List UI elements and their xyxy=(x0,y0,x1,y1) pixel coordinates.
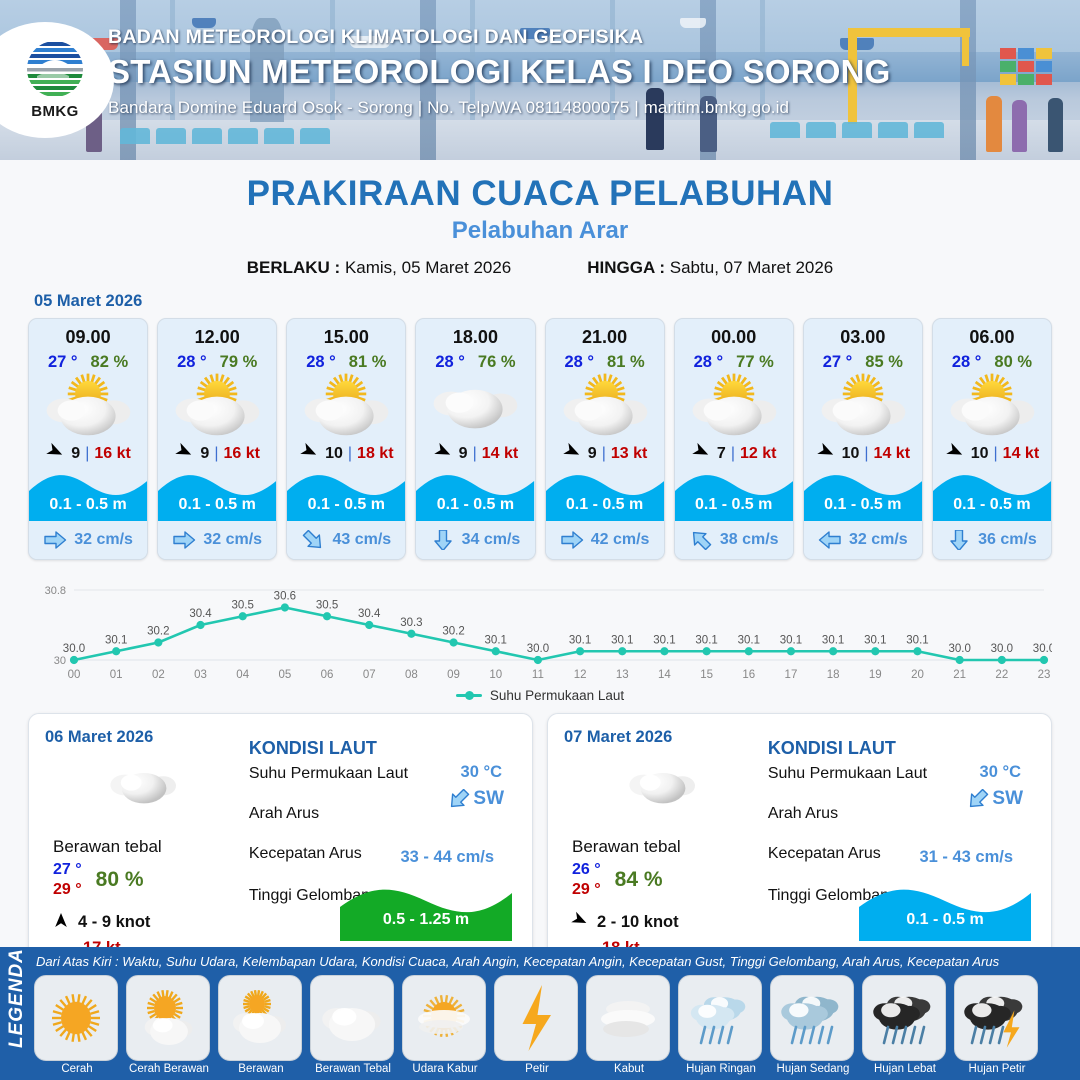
agency-name: BADAN METEOROLOGI KLIMATOLOGI DAN GEOFIS… xyxy=(108,26,891,49)
card-wind: 10 | 14 kt xyxy=(804,441,922,467)
card-temperature: 28 ° xyxy=(435,353,465,372)
daily-summaries: 06 Maret 2026 Berawan tebal 27 ° 29 ° 80… xyxy=(0,713,1080,962)
svg-text:30.4: 30.4 xyxy=(189,608,212,620)
summary-temp-max: 29 ° xyxy=(53,880,82,900)
sunny-icon xyxy=(34,975,118,1061)
summary-wave: 0.5 - 1.25 m xyxy=(340,879,512,941)
cloudy-icon xyxy=(564,755,762,817)
station-name: STASIUN METEOROLOGI KELAS I DEO SORONG xyxy=(108,53,891,91)
legend-item: Cerah xyxy=(34,975,120,1075)
svg-text:06: 06 xyxy=(321,669,334,681)
card-current-speed: 32 cm/s xyxy=(74,531,133,549)
wind-left-icon xyxy=(570,910,590,935)
card-gust: 16 kt xyxy=(94,445,130,463)
forecast-card: 12.00 28 ° 79 % 9 | xyxy=(157,318,277,560)
card-wind: 9 | 16 kt xyxy=(158,441,276,467)
forecast-card: 18.00 28 ° 76 % 9 | 14 kt 0.1 - 0.5 m xyxy=(415,318,535,560)
summary-wave-height: 0.1 - 0.5 m xyxy=(859,911,1031,929)
current-speed-value: 31 - 43 cm/s xyxy=(919,848,1013,867)
svg-text:30.1: 30.1 xyxy=(653,634,675,646)
svg-text:30.1: 30.1 xyxy=(780,634,802,646)
card-wind-speed: 10 xyxy=(971,445,989,463)
legend-item-label: Hujan Sedang xyxy=(770,1063,856,1075)
lightning-icon xyxy=(494,975,578,1061)
svg-text:30.2: 30.2 xyxy=(442,626,464,638)
card-current: 36 cm/s xyxy=(933,521,1051,559)
svg-text:30.0: 30.0 xyxy=(991,643,1013,655)
wind-direction-icon xyxy=(562,441,583,467)
forecast-card: 15.00 28 ° 81 % 10 | xyxy=(286,318,406,560)
card-separator: | xyxy=(602,445,606,463)
card-time: 03.00 xyxy=(804,319,922,348)
legend-item-label: Hujan Petir xyxy=(954,1063,1040,1075)
partly-cloudy-icon xyxy=(804,374,922,436)
wind-down-icon xyxy=(51,910,71,935)
card-wave-height: 0.1 - 0.5 m xyxy=(416,496,534,514)
partly-cloudy-icon xyxy=(126,975,210,1061)
arrow-right-icon xyxy=(560,530,584,550)
summary-humidity: 84 % xyxy=(615,868,663,892)
summary-date: 07 Maret 2026 xyxy=(564,728,762,747)
arrow-down-left-icon xyxy=(966,789,990,809)
page-title: PRAKIRAAN CUACA PELABUHAN xyxy=(0,174,1080,214)
svg-text:30.5: 30.5 xyxy=(316,599,338,611)
card-wind: 7 | 12 kt xyxy=(675,441,793,467)
svg-text:11: 11 xyxy=(532,669,544,681)
legend-item-label: Berawan Tebal xyxy=(310,1063,396,1075)
legend-item: Petir xyxy=(494,975,580,1075)
wind-direction-icon xyxy=(174,441,195,467)
svg-text:30.1: 30.1 xyxy=(738,634,760,646)
svg-text:09: 09 xyxy=(447,669,460,681)
sea-condition-heading: KONDISI LAUT xyxy=(768,738,1035,759)
page-title-block: PRAKIRAAN CUACA PELABUHAN Pelabuhan Arar… xyxy=(0,160,1080,278)
card-current-speed: 32 cm/s xyxy=(203,531,262,549)
legend-item-label: Udara Kabur xyxy=(402,1063,488,1075)
valid-from-label: BERLAKU : xyxy=(247,258,341,277)
summary-left: 07 Maret 2026 Berawan tebal 26 ° 29 ° 84… xyxy=(564,728,762,947)
legend-item-label: Berawan xyxy=(218,1063,304,1075)
card-gust: 14 kt xyxy=(482,445,518,463)
partly-cloudy-icon xyxy=(546,374,664,436)
sst-chart-svg: 30.83030.00030.10130.20230.40330.50430.6… xyxy=(28,574,1052,686)
cloudy-icon xyxy=(310,975,394,1061)
summary-temps: 27 ° 29 ° 80 % xyxy=(53,860,243,901)
svg-text:21: 21 xyxy=(953,669,966,681)
arrow-down-icon xyxy=(431,530,455,550)
svg-text:23: 23 xyxy=(1038,669,1051,681)
legend-item: Hujan Ringan xyxy=(678,975,764,1075)
legend-items: Cerah Cerah Berawan Berawan Berawan Teba… xyxy=(34,975,1076,1075)
forecast-cards: 09.00 27 ° 82 % 9 | xyxy=(0,318,1080,560)
svg-text:22: 22 xyxy=(995,669,1008,681)
card-time: 09.00 xyxy=(29,319,147,348)
wind-direction-icon xyxy=(299,441,320,467)
card-wave: 0.1 - 0.5 m xyxy=(675,469,793,521)
card-humidity: 76 % xyxy=(478,353,516,372)
svg-text:30.0: 30.0 xyxy=(527,643,549,655)
arrow-right-icon xyxy=(43,530,67,550)
arrow-down-icon xyxy=(947,530,971,550)
wind-direction-icon xyxy=(945,441,966,467)
summary-temps: 26 ° 29 ° 84 % xyxy=(572,860,762,901)
svg-text:05: 05 xyxy=(278,669,291,681)
svg-text:30.0: 30.0 xyxy=(63,643,85,655)
card-wind: 10 | 14 kt xyxy=(933,441,1051,467)
card-gust: 16 kt xyxy=(223,445,259,463)
summary-temp-min: 27 ° xyxy=(53,860,82,880)
arrow-down-left-icon xyxy=(447,789,471,809)
haze-icon xyxy=(402,975,486,1061)
header-text-block: BADAN METEOROLOGI KLIMATOLOGI DAN GEOFIS… xyxy=(108,26,891,118)
legend-item: Berawan Tebal xyxy=(310,975,396,1075)
summary-humidity: 80 % xyxy=(96,868,144,892)
svg-text:30.4: 30.4 xyxy=(358,608,381,620)
card-current-speed: 38 cm/s xyxy=(720,531,779,549)
svg-text:30.0: 30.0 xyxy=(1033,643,1052,655)
card-wave: 0.1 - 0.5 m xyxy=(158,469,276,521)
card-wind-speed: 9 xyxy=(71,445,80,463)
arrow-down-right-icon xyxy=(301,530,325,550)
svg-text:30.2: 30.2 xyxy=(147,626,169,638)
card-wave-height: 0.1 - 0.5 m xyxy=(804,496,922,514)
svg-text:19: 19 xyxy=(869,669,882,681)
arrow-right-icon xyxy=(172,530,196,550)
card-wave: 0.1 - 0.5 m xyxy=(933,469,1051,521)
svg-text:02: 02 xyxy=(152,669,165,681)
svg-text:14: 14 xyxy=(658,669,671,681)
summary-condition: Berawan tebal xyxy=(53,837,243,857)
card-current-speed: 42 cm/s xyxy=(591,531,650,549)
summary-right: KONDISI LAUT Suhu Permukaan Laut Arah Ar… xyxy=(762,728,1035,947)
valid-to-value: Sabtu, 07 Maret 2026 xyxy=(670,258,834,277)
summary-left: 06 Maret 2026 Berawan tebal 27 ° 29 ° 80… xyxy=(45,728,243,947)
card-separator: | xyxy=(994,445,998,463)
forecast-card: 09.00 27 ° 82 % 9 | xyxy=(28,318,148,560)
card-wave: 0.1 - 0.5 m xyxy=(287,469,405,521)
card-wind-speed: 7 xyxy=(717,445,726,463)
current-speed-value: 33 - 44 cm/s xyxy=(400,848,494,867)
svg-text:30.1: 30.1 xyxy=(906,634,928,646)
card-wind: 9 | 13 kt xyxy=(546,441,664,467)
legend-item: Hujan Lebat xyxy=(862,975,948,1075)
valid-from-value: Kamis, 05 Maret 2026 xyxy=(345,258,511,277)
sst-chart: 30.83030.00030.10130.20230.40330.50430.6… xyxy=(28,574,1052,686)
svg-text:17: 17 xyxy=(785,669,798,681)
wind-direction-icon xyxy=(816,441,837,467)
card-gust: 12 kt xyxy=(740,445,776,463)
partly-cloudy-icon xyxy=(158,374,276,436)
partly-cloudy-icon xyxy=(675,374,793,436)
card-wave: 0.1 - 0.5 m xyxy=(804,469,922,521)
summary-temp-min: 26 ° xyxy=(572,860,601,880)
summary-right: KONDISI LAUT Suhu Permukaan Laut Arah Ar… xyxy=(243,728,516,947)
forecast-card: 00.00 28 ° 77 % 7 | xyxy=(674,318,794,560)
legend-item-label: Hujan Lebat xyxy=(862,1063,948,1075)
valid-to-label: HINGGA : xyxy=(587,258,665,277)
heavy-rain-icon xyxy=(862,975,946,1061)
svg-text:30.1: 30.1 xyxy=(105,634,127,646)
current-direction-value: SW xyxy=(966,788,1023,810)
sst-value: 30 °C xyxy=(980,763,1021,782)
card-time: 06.00 xyxy=(933,319,1051,348)
summary-wind-speed: 4 - 9 knot xyxy=(78,913,150,932)
card-time: 00.00 xyxy=(675,319,793,348)
card-wind-speed: 9 xyxy=(200,445,209,463)
card-wave: 0.1 - 0.5 m xyxy=(29,469,147,521)
station-contact: Bandara Domine Eduard Osok - Sorong | No… xyxy=(108,98,891,118)
svg-text:30.0: 30.0 xyxy=(948,643,970,655)
sea-condition-heading: KONDISI LAUT xyxy=(249,738,516,759)
card-gust: 18 kt xyxy=(357,445,393,463)
bmkg-logo-mark xyxy=(23,40,87,102)
fog-icon xyxy=(586,975,670,1061)
legend-item: Cerah Berawan xyxy=(126,975,212,1075)
svg-text:00: 00 xyxy=(68,669,81,681)
legend-item: Berawan xyxy=(218,975,304,1075)
card-gust: 14 kt xyxy=(874,445,910,463)
legend-content: Dari Atas Kiri : Waktu, Suhu Udara, Kele… xyxy=(34,947,1080,1080)
card-current-speed: 32 cm/s xyxy=(849,531,908,549)
legend-item-label: Hujan Ringan xyxy=(678,1063,764,1075)
svg-text:04: 04 xyxy=(236,669,249,681)
bmkg-logo-text: BMKG xyxy=(31,103,78,120)
thunderstorm-icon xyxy=(954,975,1038,1061)
svg-text:13: 13 xyxy=(616,669,629,681)
card-separator: | xyxy=(214,445,218,463)
arrow-left-icon xyxy=(818,530,842,550)
card-wave-height: 0.1 - 0.5 m xyxy=(287,496,405,514)
legend-item-label: Kabut xyxy=(586,1063,672,1075)
validity-row: BERLAKU : Kamis, 05 Maret 2026 HINGGA : … xyxy=(0,258,1080,278)
cloudy-icon xyxy=(416,374,534,436)
summary-temp-max: 29 ° xyxy=(572,880,601,900)
legend-bar: LEGENDA Dari Atas Kiri : Waktu, Suhu Uda… xyxy=(0,947,1080,1080)
card-current-speed: 43 cm/s xyxy=(332,531,391,549)
card-separator: | xyxy=(348,445,352,463)
svg-text:30.6: 30.6 xyxy=(274,591,296,603)
current-direction-value: SW xyxy=(447,788,504,810)
card-wave-height: 0.1 - 0.5 m xyxy=(546,496,664,514)
summary-wave: 0.1 - 0.5 m xyxy=(859,879,1031,941)
card-separator: | xyxy=(85,445,89,463)
card-wind: 10 | 18 kt xyxy=(287,441,405,467)
summary-wave-height: 0.5 - 1.25 m xyxy=(340,911,512,929)
svg-text:30.3: 30.3 xyxy=(400,617,422,629)
legend-item-label: Cerah Berawan xyxy=(126,1063,212,1075)
chart-legend: Suhu Permukaan Laut xyxy=(0,688,1080,703)
card-separator: | xyxy=(731,445,735,463)
summary-wind-speed: 2 - 10 knot xyxy=(597,913,679,932)
card-current-speed: 36 cm/s xyxy=(978,531,1037,549)
svg-text:30.1: 30.1 xyxy=(611,634,633,646)
svg-text:03: 03 xyxy=(194,669,207,681)
card-current-speed: 34 cm/s xyxy=(462,531,521,549)
svg-text:01: 01 xyxy=(110,669,123,681)
mostly-cloudy-icon xyxy=(218,975,302,1061)
svg-text:30.1: 30.1 xyxy=(485,634,507,646)
cloudy-icon xyxy=(45,755,243,817)
forecast-card: 06.00 28 ° 80 % 10 | xyxy=(932,318,1052,560)
svg-text:18: 18 xyxy=(827,669,840,681)
svg-text:20: 20 xyxy=(911,669,924,681)
card-current: 38 cm/s xyxy=(675,521,793,559)
card-wave: 0.1 - 0.5 m xyxy=(546,469,664,521)
card-wind: 9 | 16 kt xyxy=(29,441,147,467)
card-current: 34 cm/s xyxy=(416,521,534,559)
chart-legend-label: Suhu Permukaan Laut xyxy=(490,688,624,703)
forecast-card: 21.00 28 ° 81 % 9 | xyxy=(545,318,665,560)
legend-side-text: LEGENDA xyxy=(6,952,28,1048)
card-time: 12.00 xyxy=(158,319,276,348)
card-current: 32 cm/s xyxy=(29,521,147,559)
legend-note: Dari Atas Kiri : Waktu, Suhu Udara, Kele… xyxy=(34,947,1076,975)
card-wave-height: 0.1 - 0.5 m xyxy=(158,496,276,514)
moderate-rain-icon xyxy=(770,975,854,1061)
port-name: Pelabuhan Arar xyxy=(0,217,1080,245)
daily-summary-panel: 07 Maret 2026 Berawan tebal 26 ° 29 ° 84… xyxy=(547,713,1052,962)
card-current: 32 cm/s xyxy=(804,521,922,559)
card-wind: 9 | 14 kt xyxy=(416,441,534,467)
summary-date: 06 Maret 2026 xyxy=(45,728,243,747)
sst-value: 30 °C xyxy=(461,763,502,782)
valid-from: BERLAKU : Kamis, 05 Maret 2026 xyxy=(247,258,512,278)
card-separator: | xyxy=(864,445,868,463)
svg-text:30.1: 30.1 xyxy=(822,634,844,646)
card-wave: 0.1 - 0.5 m xyxy=(416,469,534,521)
card-time: 21.00 xyxy=(546,319,664,348)
card-wind-speed: 9 xyxy=(588,445,597,463)
card-current: 43 cm/s xyxy=(287,521,405,559)
legend-item: Kabut xyxy=(586,975,672,1075)
svg-text:10: 10 xyxy=(489,669,502,681)
partly-cloudy-icon xyxy=(933,374,1051,436)
card-values: 28 ° 76 % xyxy=(416,353,534,372)
wind-direction-icon xyxy=(691,441,712,467)
daily-summary-panel: 06 Maret 2026 Berawan tebal 27 ° 29 ° 80… xyxy=(28,713,533,962)
svg-text:12: 12 xyxy=(574,669,587,681)
forecast-date-label: 05 Maret 2026 xyxy=(34,292,1080,311)
summary-condition: Berawan tebal xyxy=(572,837,762,857)
chart-legend-marker xyxy=(456,694,482,697)
summary-wind: 2 - 10 knot xyxy=(570,910,762,935)
forecast-card: 03.00 27 ° 85 % 10 | xyxy=(803,318,923,560)
card-gust: 14 kt xyxy=(1003,445,1039,463)
svg-text:30.1: 30.1 xyxy=(864,634,886,646)
card-current: 32 cm/s xyxy=(158,521,276,559)
legend-item: Hujan Sedang xyxy=(770,975,856,1075)
legend-item-label: Petir xyxy=(494,1063,580,1075)
card-wave-height: 0.1 - 0.5 m xyxy=(675,496,793,514)
page-header: BMKG BADAN METEOROLOGI KLIMATOLOGI DAN G… xyxy=(0,0,1080,160)
legend-item: Hujan Petir xyxy=(954,975,1040,1075)
legend-item: Udara Kabur xyxy=(402,975,488,1075)
summary-wind: 4 - 9 knot xyxy=(51,910,243,935)
legend-item-label: Cerah xyxy=(34,1063,120,1075)
card-wind-speed: 10 xyxy=(842,445,860,463)
svg-text:30.8: 30.8 xyxy=(45,585,66,597)
arrow-up-left-icon xyxy=(689,530,713,550)
card-wind-speed: 10 xyxy=(325,445,343,463)
card-wave-height: 0.1 - 0.5 m xyxy=(933,496,1051,514)
card-wind-speed: 9 xyxy=(459,445,468,463)
card-time: 15.00 xyxy=(287,319,405,348)
svg-text:15: 15 xyxy=(700,669,713,681)
partly-cloudy-icon xyxy=(29,374,147,436)
legend-side-label: LEGENDA xyxy=(0,947,34,1080)
light-rain-icon xyxy=(678,975,762,1061)
card-current: 42 cm/s xyxy=(546,521,664,559)
svg-text:30.1: 30.1 xyxy=(569,634,591,646)
partly-cloudy-icon xyxy=(287,374,405,436)
card-wave-height: 0.1 - 0.5 m xyxy=(29,496,147,514)
svg-text:30.5: 30.5 xyxy=(232,599,254,611)
card-gust: 13 kt xyxy=(611,445,647,463)
card-separator: | xyxy=(473,445,477,463)
svg-text:30: 30 xyxy=(54,655,66,667)
wind-direction-icon xyxy=(433,441,454,467)
svg-text:30.1: 30.1 xyxy=(695,634,717,646)
wind-direction-icon xyxy=(45,441,66,467)
svg-text:16: 16 xyxy=(742,669,755,681)
svg-text:08: 08 xyxy=(405,669,418,681)
svg-text:07: 07 xyxy=(363,669,376,681)
valid-to: HINGGA : Sabtu, 07 Maret 2026 xyxy=(587,258,833,278)
card-time: 18.00 xyxy=(416,319,534,348)
